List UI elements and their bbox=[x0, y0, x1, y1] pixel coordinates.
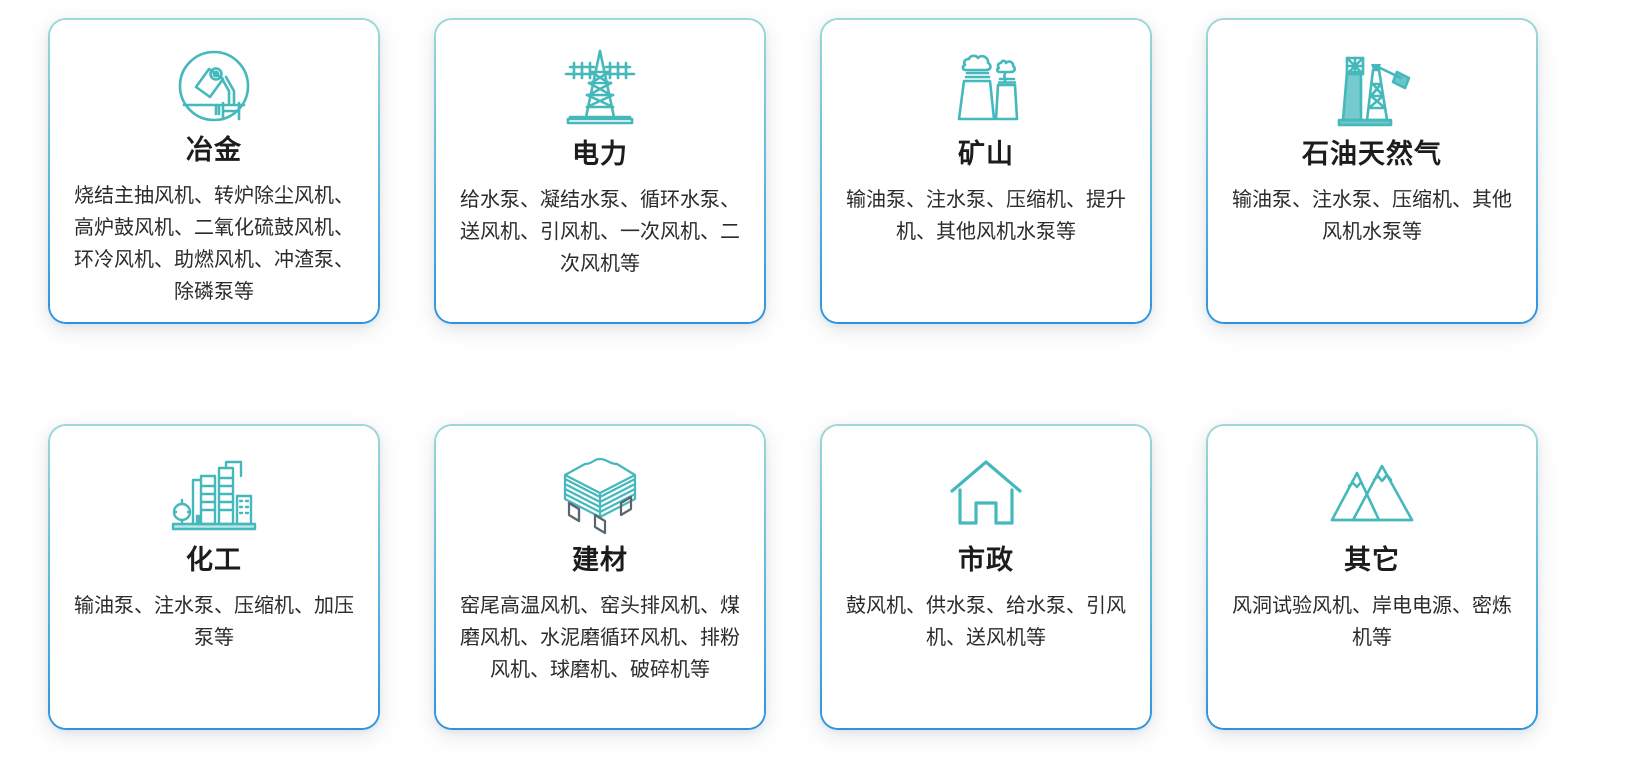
card-description: 窑尾高温风机、窑头排风机、煤磨风机、水泥磨循环风机、排粉风机、球磨机、破碎机等 bbox=[455, 590, 745, 686]
industry-card-mining[interactable]: 矿山 输油泵、注水泵、压缩机、提升机、其他风机水泵等 bbox=[820, 18, 1152, 324]
card-title: 电力 bbox=[572, 140, 628, 170]
building-materials-stacked-slabs-icon bbox=[555, 448, 645, 540]
card-description: 鼓风机、供水泵、给水泵、引风机、送风机等 bbox=[841, 590, 1131, 654]
industry-card-oil-gas[interactable]: 石油天然气 输油泵、注水泵、压缩机、其他风机水泵等 bbox=[1206, 18, 1538, 324]
other-mountains-icon bbox=[1329, 448, 1415, 540]
power-transmission-tower-icon bbox=[560, 42, 640, 134]
industry-card-grid: 冶金 烧结主抽风机、转炉除尘风机、高炉鼓风机、二氧化硫鼓风机、环冷风机、助燃风机… bbox=[48, 18, 1603, 730]
metallurgy-ladle-icon bbox=[171, 42, 257, 130]
card-content: 石油天然气 输油泵、注水泵、压缩机、其他风机水泵等 bbox=[1208, 20, 1536, 322]
industry-card-metallurgy[interactable]: 冶金 烧结主抽风机、转炉除尘风机、高炉鼓风机、二氧化硫鼓风机、环冷风机、助燃风机… bbox=[48, 18, 380, 324]
card-content: 其它 风洞试验风机、岸电电源、密炼机等 bbox=[1208, 426, 1536, 728]
card-description: 给水泵、凝结水泵、循环水泵、送风机、引风机、一次风机、二次风机等 bbox=[455, 184, 745, 280]
municipal-house-icon bbox=[946, 448, 1026, 540]
industry-card-municipal[interactable]: 市政 鼓风机、供水泵、给水泵、引风机、送风机等 bbox=[820, 424, 1152, 730]
card-description: 风洞试验风机、岸电电源、密炼机等 bbox=[1227, 590, 1517, 654]
card-content: 化工 输油泵、注水泵、压缩机、加压泵等 bbox=[50, 426, 378, 728]
industry-card-other[interactable]: 其它 风洞试验风机、岸电电源、密炼机等 bbox=[1206, 424, 1538, 730]
card-content: 建材 窑尾高温风机、窑头排风机、煤磨风机、水泥磨循环风机、排粉风机、球磨机、破碎… bbox=[436, 426, 764, 728]
card-title: 冶金 bbox=[186, 136, 242, 166]
card-description: 输油泵、注水泵、压缩机、加压泵等 bbox=[69, 590, 359, 654]
card-title: 其它 bbox=[1344, 546, 1400, 576]
card-title: 石油天然气 bbox=[1302, 140, 1442, 170]
card-content: 电力 给水泵、凝结水泵、循环水泵、送风机、引风机、一次风机、二次风机等 bbox=[436, 20, 764, 322]
card-title: 建材 bbox=[572, 546, 628, 576]
oil-gas-pumpjack-icon bbox=[1329, 42, 1415, 134]
card-description: 输油泵、注水泵、压缩机、其他风机水泵等 bbox=[1227, 184, 1517, 248]
card-description: 输油泵、注水泵、压缩机、提升机、其他风机水泵等 bbox=[841, 184, 1131, 248]
card-title: 矿山 bbox=[958, 140, 1014, 170]
card-title: 化工 bbox=[186, 546, 242, 576]
industry-card-chemical[interactable]: 化工 输油泵、注水泵、压缩机、加压泵等 bbox=[48, 424, 380, 730]
chemical-refinery-towers-icon bbox=[171, 448, 257, 540]
card-content: 市政 鼓风机、供水泵、给水泵、引风机、送风机等 bbox=[822, 426, 1150, 728]
card-content: 冶金 烧结主抽风机、转炉除尘风机、高炉鼓风机、二氧化硫鼓风机、环冷风机、助燃风机… bbox=[50, 20, 378, 322]
mine-factory-smokestack-icon bbox=[945, 42, 1027, 134]
industry-card-building-materials[interactable]: 建材 窑尾高温风机、窑头排风机、煤磨风机、水泥磨循环风机、排粉风机、球磨机、破碎… bbox=[434, 424, 766, 730]
card-title: 市政 bbox=[958, 546, 1014, 576]
card-description: 烧结主抽风机、转炉除尘风机、高炉鼓风机、二氧化硫鼓风机、环冷风机、助燃风机、冲渣… bbox=[69, 180, 359, 308]
industry-card-board: 冶金 烧结主抽风机、转炉除尘风机、高炉鼓风机、二氧化硫鼓风机、环冷风机、助燃风机… bbox=[0, 0, 1651, 781]
card-content: 矿山 输油泵、注水泵、压缩机、提升机、其他风机水泵等 bbox=[822, 20, 1150, 322]
industry-card-power[interactable]: 电力 给水泵、凝结水泵、循环水泵、送风机、引风机、一次风机、二次风机等 bbox=[434, 18, 766, 324]
